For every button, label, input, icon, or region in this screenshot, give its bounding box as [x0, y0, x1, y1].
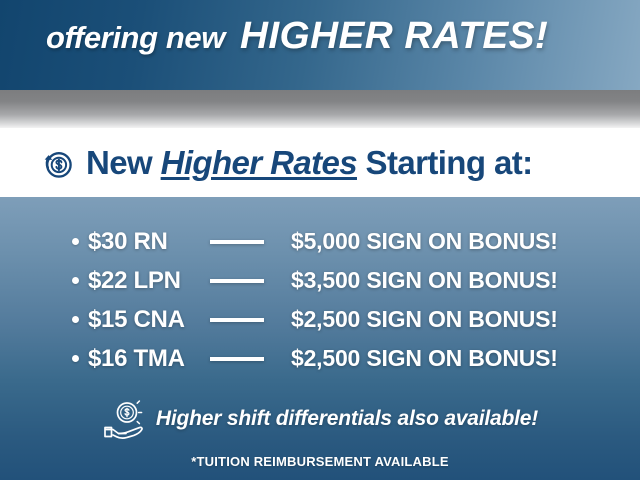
separator-dash-icon: [210, 318, 264, 322]
rate-bonus: $5,000 SIGN ON BONUS!: [291, 228, 558, 255]
bullet-icon: [72, 238, 79, 245]
rate-increase-dollar-icon: [40, 146, 76, 182]
rate-row: $16 TMA $2,500 SIGN ON BONUS!: [0, 339, 640, 378]
bullet-icon: [72, 355, 79, 362]
rate-row: $30 RN $5,000 SIGN ON BONUS!: [0, 222, 640, 261]
bullet-icon: [72, 316, 79, 323]
footer-note: *TUITION REIMBURSEMENT AVAILABLE: [0, 454, 640, 469]
rate-amount: $30 RN: [88, 228, 210, 256]
headline-emphasis: Higher Rates: [161, 144, 357, 181]
gray-divider-band: [0, 90, 640, 130]
rate-row: $22 LPN $3,500 SIGN ON BONUS!: [0, 261, 640, 300]
hand-holding-coin-icon: [102, 398, 148, 440]
top-banner-text-group: offering new HIGHER RATES!: [0, 15, 545, 58]
headline-suffix: Starting at:: [357, 144, 533, 181]
separator-dash-icon: [210, 357, 264, 361]
separator-dash-icon: [210, 240, 264, 244]
headline-prefix: New: [86, 144, 161, 181]
rate-amount: $16 TMA: [88, 345, 210, 373]
rates-list: $30 RN $5,000 SIGN ON BONUS! $22 LPN $3,…: [0, 222, 640, 378]
banner-soft-text: offering new: [46, 20, 225, 56]
banner-strong-text: HIGHER RATES!: [240, 15, 548, 58]
shift-differential-row: Higher shift differentials also availabl…: [0, 398, 640, 440]
headline-group: New Higher Rates Starting at:: [0, 144, 533, 182]
rate-bonus: $2,500 SIGN ON BONUS!: [291, 345, 558, 372]
rate-row: $15 CNA $2,500 SIGN ON BONUS!: [0, 300, 640, 339]
headline-band: New Higher Rates Starting at:: [0, 128, 640, 197]
bullet-icon: [72, 277, 79, 284]
rate-bonus: $3,500 SIGN ON BONUS!: [291, 267, 558, 294]
rate-amount: $15 CNA: [88, 306, 210, 334]
shift-differential-text: Higher shift differentials also availabl…: [156, 407, 538, 431]
recruitment-poster: offering new HIGHER RATES! New Higher Ra…: [0, 0, 640, 480]
separator-dash-icon: [210, 279, 264, 283]
rate-bonus: $2,500 SIGN ON BONUS!: [291, 306, 558, 333]
rate-amount: $22 LPN: [88, 267, 210, 295]
top-banner: offering new HIGHER RATES!: [0, 0, 640, 90]
page-title: New Higher Rates Starting at:: [86, 144, 533, 182]
